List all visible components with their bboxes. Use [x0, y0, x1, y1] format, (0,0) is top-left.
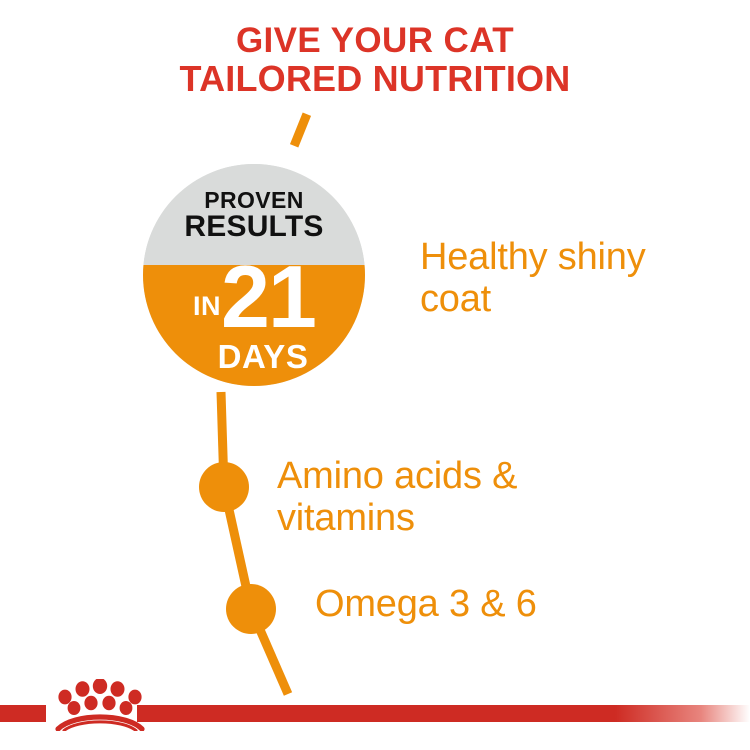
connector-segment-3: [251, 609, 288, 694]
badge-days-label: DAYS: [143, 338, 365, 376]
benefit-line-1: Omega 3 & 6: [315, 583, 645, 625]
promo-canvas: GIVE YOUR CAT TAILORED NUTRITION PROVEN …: [0, 0, 750, 750]
connector-node-icon: [226, 584, 276, 634]
headline-line-1: GIVE YOUR CAT: [0, 22, 750, 60]
benefit-line-1: Healthy shiny: [420, 236, 720, 278]
page-title: GIVE YOUR CAT TAILORED NUTRITION: [0, 22, 750, 98]
badge-in-label: IN: [193, 291, 221, 321]
badge-number: 21: [221, 247, 315, 346]
connector-segment-2: [224, 487, 251, 609]
footer-rule-right: [137, 705, 750, 722]
benefit-line-2: coat: [420, 278, 720, 320]
benefit-item-healthy-coat: Healthy shiny coat: [420, 236, 720, 320]
proven-results-badge: PROVEN RESULTS IN21 DAYS: [143, 164, 365, 386]
connector-line: [0, 0, 750, 750]
badge-results-label: RESULTS: [143, 211, 365, 243]
badge-duration-row: IN21: [143, 246, 365, 348]
diagonal-dash-icon: [290, 113, 311, 148]
headline-line-2: TAILORED NUTRITION: [0, 60, 750, 98]
connector-node-icon: [199, 462, 249, 512]
royal-canin-crown-icon: [52, 679, 148, 731]
connector-segment-1: [221, 392, 224, 487]
footer-rule-left: [0, 705, 46, 722]
badge-content: PROVEN RESULTS IN21 DAYS: [143, 164, 365, 386]
benefit-item-amino-acids: Amino acids & vitamins: [277, 455, 597, 539]
benefit-line-1: Amino acids &: [277, 455, 597, 497]
benefit-line-2: vitamins: [277, 497, 597, 539]
benefit-item-omega: Omega 3 & 6: [315, 583, 645, 625]
